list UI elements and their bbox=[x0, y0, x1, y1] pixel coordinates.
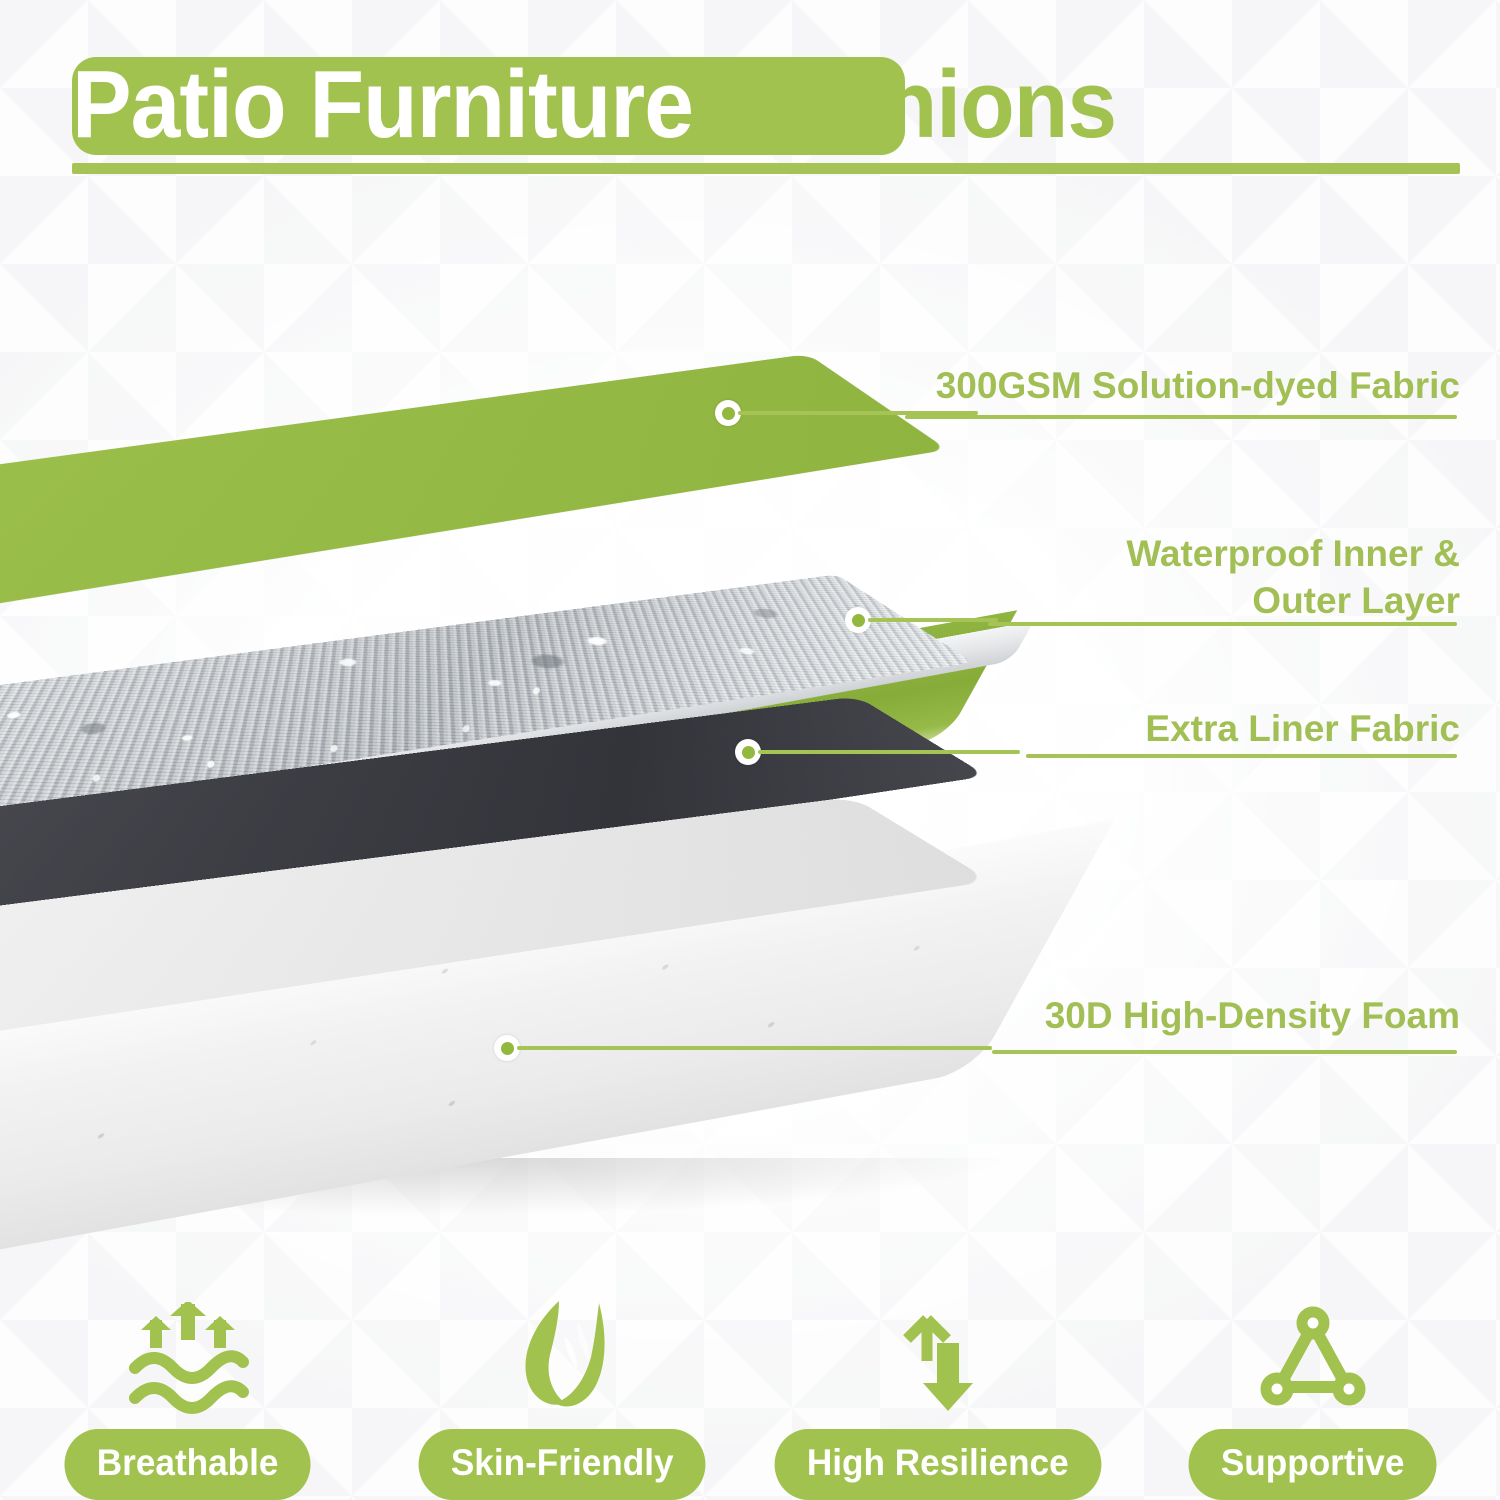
feature-skin-friendly[interactable]: Skin-Friendly bbox=[375, 1255, 750, 1500]
feather-icon bbox=[503, 1299, 623, 1417]
header: Patio Furniture Cushions bbox=[0, 0, 1500, 190]
callout-label-liner: Extra Liner Fabric bbox=[760, 705, 1460, 752]
feature-badge-row: Breathable Skin-Friendly bbox=[0, 1255, 1500, 1500]
callout-label-rule-liner bbox=[1026, 754, 1457, 758]
callout-label-fabric: 300GSM Solution-dyed Fabric bbox=[760, 362, 1460, 409]
breathable-waves-icon bbox=[123, 1299, 253, 1417]
callout-label-rule-foam bbox=[992, 1050, 1457, 1054]
title-underline-rule bbox=[72, 163, 1460, 174]
feature-label-supportive: Supportive bbox=[1188, 1429, 1436, 1500]
callout-label-rule-waterproof bbox=[988, 622, 1457, 626]
cushion-layer-stack bbox=[0, 330, 1010, 1210]
feature-label-breathable: Breathable bbox=[64, 1429, 310, 1500]
feature-label-skin-friendly: Skin-Friendly bbox=[419, 1429, 706, 1500]
feature-high-resilience[interactable]: High Resilience bbox=[750, 1255, 1125, 1500]
page-title: Patio Furniture Cushions bbox=[72, 49, 1374, 161]
feature-supportive[interactable]: Supportive bbox=[1125, 1255, 1500, 1500]
product-infographic: Patio Furniture Cushions 300GSM Solution… bbox=[0, 0, 1500, 1500]
feature-breathable[interactable]: Breathable bbox=[0, 1255, 375, 1500]
feature-label-high-resilience: High Resilience bbox=[774, 1429, 1100, 1500]
title-plain-text: Cushions bbox=[693, 51, 1116, 158]
up-down-arrows-icon bbox=[883, 1299, 993, 1417]
callout-label-rule-fabric bbox=[905, 415, 1457, 419]
triangle-nodes-icon bbox=[1255, 1299, 1371, 1417]
callout-label-waterproof: Waterproof Inner & Outer Layer bbox=[700, 530, 1460, 624]
callout-leader-foam bbox=[517, 1046, 992, 1050]
callout-label-foam: 30D High-Density Foam bbox=[760, 992, 1460, 1039]
title-highlight-text: Patio Furniture bbox=[72, 51, 693, 158]
